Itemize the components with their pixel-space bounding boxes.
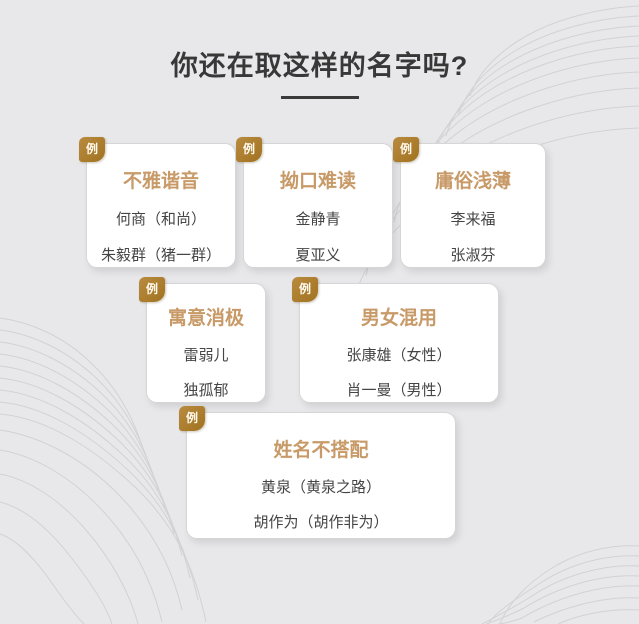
page-root: 你还在取这样的名字吗? 例 不雅谐音 何商（和尚） 朱毅群（猪一群） 例 拗口难…: [0, 0, 639, 624]
card-title: 拗口难读: [244, 166, 392, 193]
example-card-3: 例 寓意消极 雷弱儿 独孤郁: [146, 283, 266, 403]
card-title: 寓意消极: [147, 303, 265, 330]
example-badge: 例: [236, 137, 262, 162]
example-badge: 例: [179, 406, 205, 431]
card-example-line: 朱毅群（猪一群）: [87, 244, 235, 265]
card-example-line: 雷弱儿: [147, 344, 265, 365]
example-card-5: 例 姓名不搭配 黄泉（黄泉之路） 胡作为（胡作非为）: [186, 412, 456, 539]
example-badge: 例: [292, 277, 318, 302]
page-title: 你还在取这样的名字吗?: [0, 44, 639, 83]
card-title: 庸俗浅薄: [401, 166, 545, 193]
card-title: 男女混用: [300, 303, 498, 330]
example-badge: 例: [139, 277, 165, 302]
example-card-2: 例 庸俗浅薄 李来福 张淑芬: [400, 143, 546, 268]
card-example-line: 李来福: [401, 208, 545, 229]
card-title: 不雅谐音: [87, 166, 235, 193]
card-example-line: 胡作为（胡作非为）: [187, 511, 455, 532]
title-divider: [281, 96, 359, 99]
example-badge: 例: [79, 137, 105, 162]
example-card-1: 例 拗口难读 金静青 夏亚义: [243, 143, 393, 268]
card-example-line: 独孤郁: [147, 379, 265, 400]
example-card-4: 例 男女混用 张康雄（女性） 肖一曼（男性）: [299, 283, 499, 403]
card-example-line: 张淑芬: [401, 244, 545, 265]
card-example-line: 肖一曼（男性）: [300, 379, 498, 400]
card-example-line: 何商（和尚）: [87, 208, 235, 229]
card-example-line: 张康雄（女性）: [300, 344, 498, 365]
card-example-line: 金静青: [244, 208, 392, 229]
example-badge: 例: [393, 137, 419, 162]
card-title: 姓名不搭配: [187, 435, 455, 462]
example-card-0: 例 不雅谐音 何商（和尚） 朱毅群（猪一群）: [86, 143, 236, 268]
card-example-line: 黄泉（黄泉之路）: [187, 476, 455, 497]
card-example-line: 夏亚义: [244, 244, 392, 265]
